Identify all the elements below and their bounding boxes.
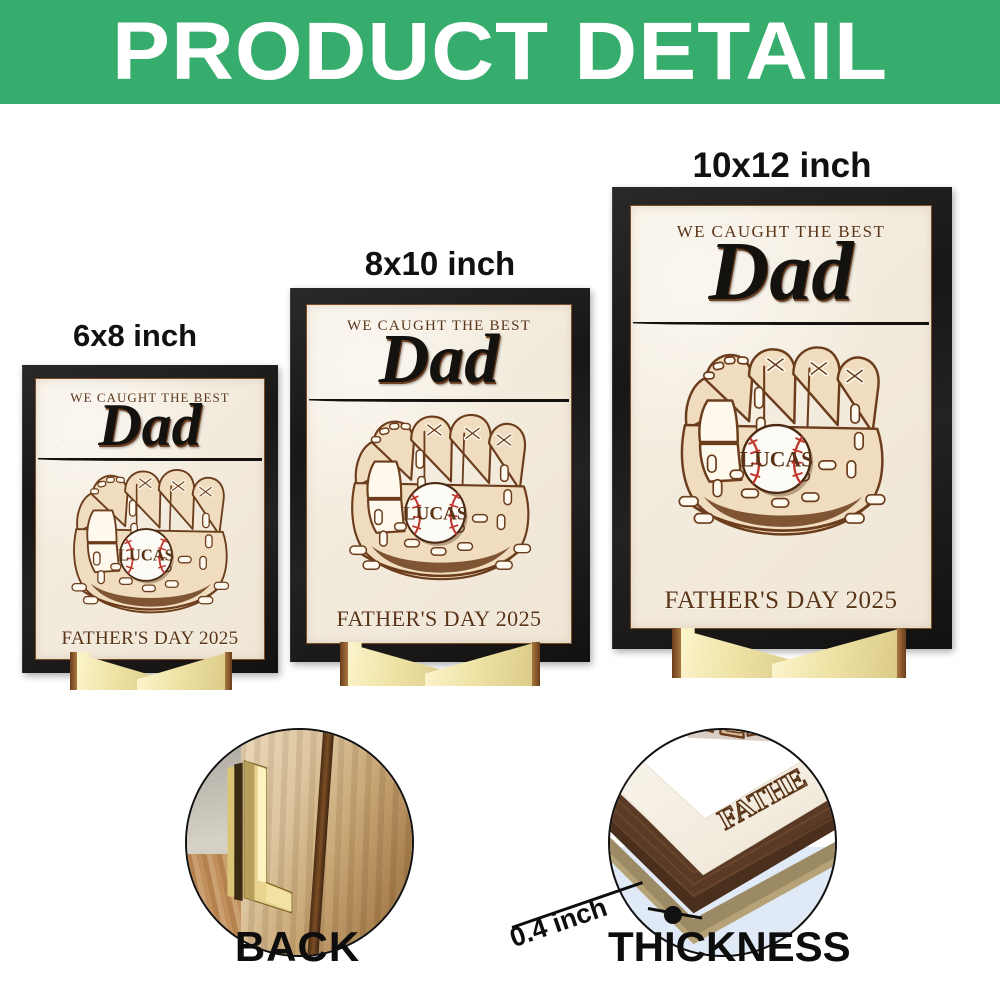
baseball-glove-illustration-6x8: LUCAS [50, 463, 252, 621]
stand-edge-right [532, 642, 540, 686]
header-banner: PRODUCT DETAIL [0, 0, 1000, 104]
detail-thickness: FATHE THICKNESS [608, 728, 833, 953]
thickness-leader-dot [664, 906, 682, 924]
footer-text-8x10: FATHER'S DAY 2025 [307, 606, 571, 632]
stand-leg-right-arm [772, 628, 902, 678]
footer-text-10x12: FATHER'S DAY 2025 [631, 587, 931, 615]
personalized-name-10x12: LUCAS [740, 448, 813, 472]
headline-underline-6x8 [38, 458, 262, 461]
product-frame-6x8[interactable]: WE CAUGHT THE BEST Dad [22, 365, 278, 673]
stand-leg-right-arm [425, 642, 537, 686]
frame-mat: WE CAUGHT THE BEST Dad [306, 304, 572, 644]
headline-underline-10x12 [633, 322, 929, 325]
product-frame-10x12[interactable]: WE CAUGHT THE BEST Dad [612, 187, 952, 649]
stand-leg-right-arm [137, 652, 229, 690]
display-stand-8x10 [340, 642, 540, 686]
thickness-label: THICKNESS [608, 923, 833, 971]
size-label-6x8: 6x8 inch [22, 318, 248, 354]
baseball-glove-illustration-10x12: LUCAS [651, 330, 915, 554]
headline-dad-8x10: Dad [307, 331, 571, 388]
stand-edge-right [897, 628, 906, 678]
baseball-glove-illustration-8x10: LUCAS [325, 405, 557, 591]
size-label-10x12: 10x12 inch [612, 146, 952, 186]
back-label: BACK [185, 923, 410, 971]
page-title: PRODUCT DETAIL [112, 11, 888, 93]
wooden-easel-stand-icon [219, 748, 320, 933]
stand-edge-left [340, 642, 348, 686]
personalized-name-8x10: LUCAS [403, 504, 468, 525]
frame-mat: WE CAUGHT THE BEST Dad [35, 378, 265, 660]
stand-edge-left [70, 652, 77, 690]
headline-dad-10x12: Dad [631, 238, 931, 307]
frame-mat: WE CAUGHT THE BEST Dad [630, 205, 932, 629]
headline-underline-8x10 [309, 399, 569, 402]
display-stand-10x12 [672, 628, 906, 678]
detail-back: BACK [185, 728, 410, 953]
footer-text-6x8: FATHER'S DAY 2025 [36, 628, 264, 650]
headline-dad-6x8: Dad [36, 401, 264, 450]
stand-edge-left [672, 628, 681, 678]
stand-edge-right [225, 652, 232, 690]
product-detail-page: PRODUCT DETAIL 6x8 inch WE CAUGHT THE BE… [0, 0, 1000, 1000]
size-label-8x10: 8x10 inch [290, 245, 590, 283]
product-frame-8x10[interactable]: WE CAUGHT THE BEST Dad [290, 288, 590, 662]
personalized-name-6x8: LUCAS [118, 546, 174, 565]
display-stand-6x8 [70, 652, 232, 690]
